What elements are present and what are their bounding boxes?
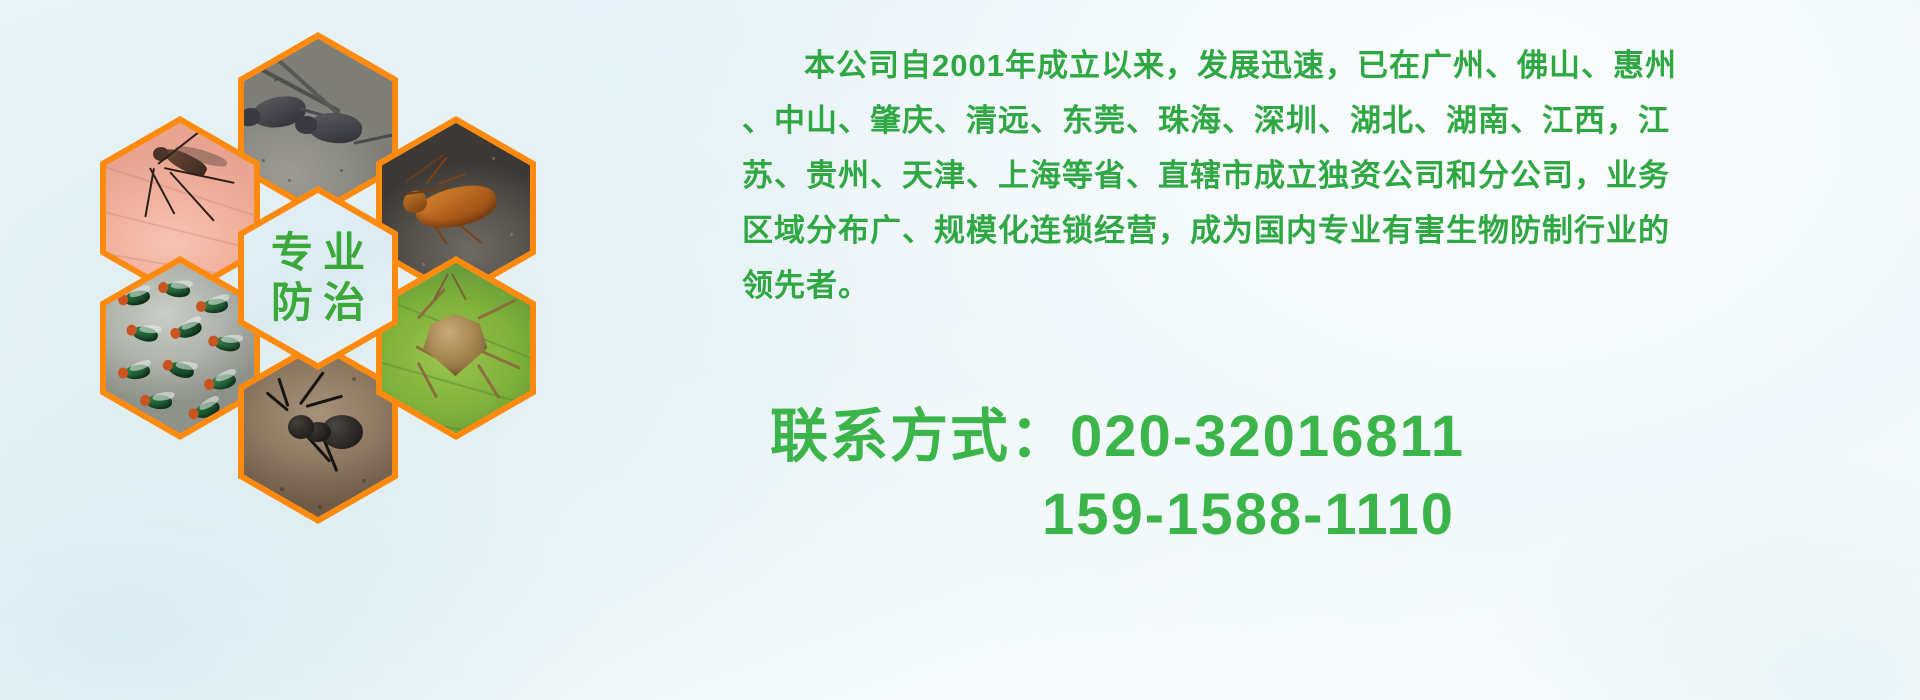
hex-badge-label: 专业 防治 — [244, 193, 392, 363]
hex-photo-flies[interactable] — [100, 256, 260, 440]
contact-primary-line: 联系方式：020-32016811 — [770, 398, 1770, 476]
hex-photo-flies-inner — [106, 263, 254, 433]
hex-photo-stink-bug[interactable] — [376, 256, 536, 440]
company-description: 本公司自2001年成立以来，发展迅速，已在广州、佛山、惠州 、中山、肇庆、清远、… — [742, 38, 1832, 313]
badge-line-1: 专业 — [261, 231, 375, 275]
badge-line-2: 防治 — [261, 281, 375, 325]
contact-phone-2[interactable]: 159-1588-1110 — [770, 476, 1770, 554]
pest-control-banner: 专业 防治 本公司自2001年成立以来，发展迅速，已在广州、佛山、惠州 、中山、… — [0, 0, 1920, 700]
honeycomb-photo-cluster: 专业 防治 — [90, 14, 590, 574]
hex-photo-rodents-inner — [244, 39, 392, 209]
contact-block: 联系方式：020-32016811 159-1588-1110 — [770, 398, 1770, 554]
hex-badge-inner: 专业 防治 — [244, 193, 392, 363]
contact-label: 联系方式： — [770, 404, 1070, 469]
description-line-2: 、中山、肇庆、清远、东莞、珠海、深圳、湖北、湖南、江西，江 — [742, 93, 1832, 148]
rodents-photo-icon — [244, 39, 392, 209]
ant-photo-icon — [244, 347, 392, 517]
description-line-3: 苏、贵州、天津、上海等省、直辖市成立独资公司和分公司，业务 — [742, 148, 1832, 203]
description-line-4: 区域分布广、规模化连锁经营，成为国内专业有害生物防制行业的 — [742, 203, 1832, 258]
hex-photo-ant-inner — [244, 347, 392, 517]
hex-photo-stink-bug-inner — [382, 263, 530, 433]
hex-badge-specialty: 专业 防治 — [238, 186, 398, 370]
stink-bug-photo-icon — [382, 263, 530, 433]
contact-phone-1[interactable]: 020-32016811 — [1070, 404, 1465, 469]
description-line-1: 本公司自2001年成立以来，发展迅速，已在广州、佛山、惠州 — [742, 38, 1832, 93]
description-line-5: 领先者。 — [742, 258, 1832, 313]
flies-photo-icon — [106, 263, 254, 433]
